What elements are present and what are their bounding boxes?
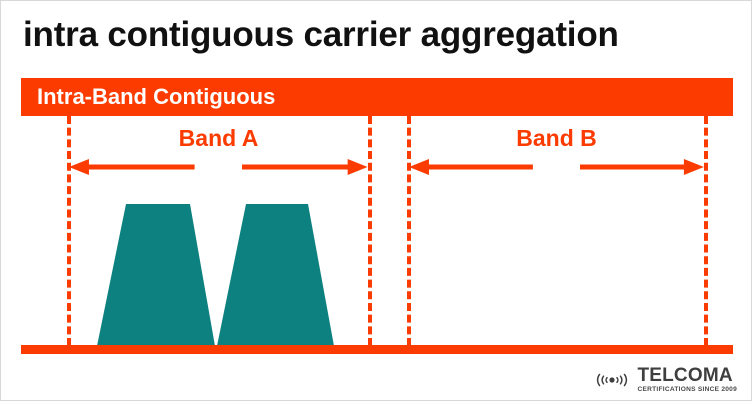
logo-tagline: CERTIFICATIONS SINCE 2009 bbox=[637, 387, 737, 394]
band-b-label: Band B bbox=[409, 125, 704, 152]
telcoma-logo: TELCOMA CERTIFICATIONS SINCE 2009 bbox=[590, 366, 737, 394]
band-a-arrow-right-icon bbox=[242, 159, 368, 175]
band-a-label: Band A bbox=[69, 125, 368, 152]
logo-name: TELCOMA bbox=[637, 366, 732, 385]
slide-canvas: intra contiguous carrier aggregation Int… bbox=[0, 0, 752, 401]
carrier-trapezoid-2 bbox=[217, 204, 334, 346]
band-header-label: Intra-Band Contiguous bbox=[37, 78, 275, 116]
band-b-arrow-right-icon bbox=[580, 159, 704, 175]
carrier-shapes-group bbox=[1, 199, 752, 346]
band-a-arrow bbox=[69, 159, 368, 175]
band-a-arrow-left-icon bbox=[69, 159, 195, 175]
band-span-a: Band A bbox=[69, 125, 368, 181]
band-span-b: Band B bbox=[409, 125, 704, 181]
band-b-arrow-left-icon bbox=[409, 159, 533, 175]
baseline-bar bbox=[21, 345, 733, 354]
logo-text-block: TELCOMA CERTIFICATIONS SINCE 2009 bbox=[637, 366, 737, 394]
broadcast-signal-icon bbox=[590, 369, 634, 391]
page-title: intra contiguous carrier aggregation bbox=[23, 9, 733, 61]
carrier-trapezoid-1 bbox=[97, 204, 215, 346]
band-b-arrow bbox=[409, 159, 704, 175]
band-header-bar: Intra-Band Contiguous bbox=[21, 78, 733, 116]
